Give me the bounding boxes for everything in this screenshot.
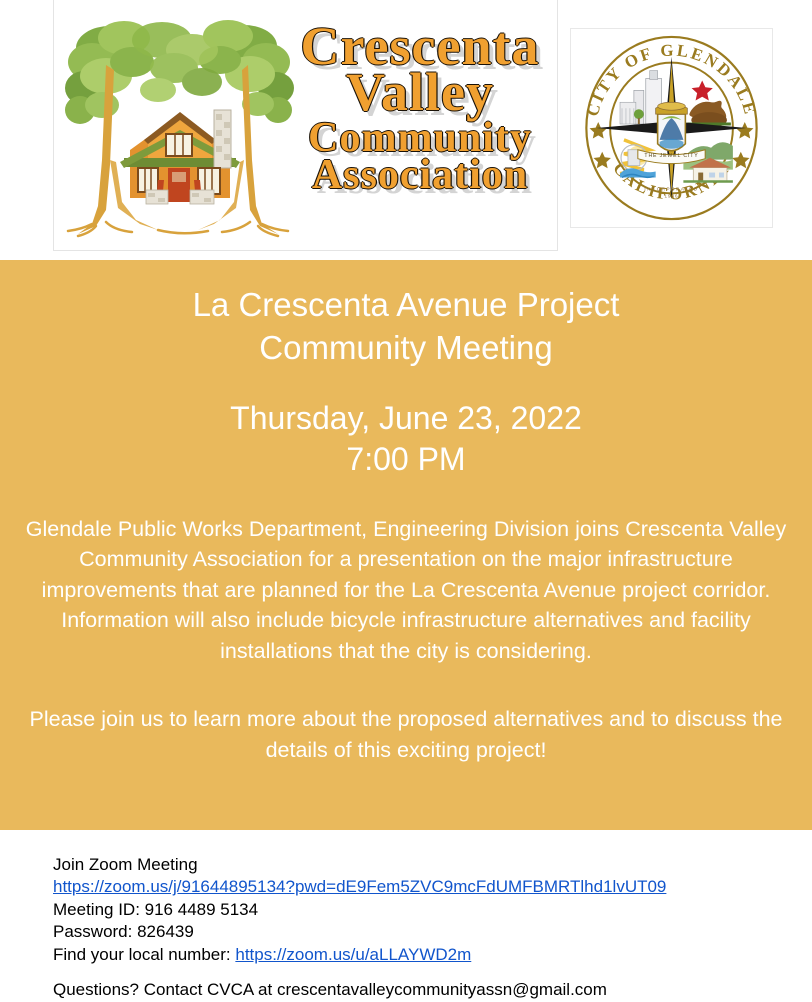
zoom-join-link[interactable]: https://zoom.us/j/91644895134?pwd=dE9Fem…	[53, 877, 666, 896]
meeting-date: Thursday, June 23, 2022	[40, 398, 772, 439]
meeting-title-line2: Community Meeting	[40, 327, 772, 370]
city-of-glendale-seal-box: CITY OF GLENDALE CALIFORNIA	[570, 28, 773, 228]
local-number-row: Find your local number: https://zoom.us/…	[53, 944, 812, 966]
zoom-meeting-id: Meeting ID: 916 4489 5134	[53, 899, 812, 921]
cvca-wordmark: Crescenta Valley Community Association	[286, 22, 554, 227]
house-with-trees-illustration	[62, 10, 297, 245]
meeting-datetime: Thursday, June 23, 2022 7:00 PM	[40, 398, 772, 480]
seal-motto-text: THE JEWEL CITY	[644, 153, 698, 159]
meeting-invitation: Please join us to learn more about the p…	[22, 704, 790, 765]
questions-contact: Questions? Contact CVCA at crescentavall…	[53, 979, 812, 1001]
announcement-band: La Crescenta Avenue Project Community Me…	[0, 260, 812, 830]
join-zoom-heading: Join Zoom Meeting	[53, 854, 812, 876]
meeting-time: 7:00 PM	[40, 439, 772, 480]
meeting-title: La Crescenta Avenue Project Community Me…	[40, 284, 772, 370]
header: Crescenta Valley Community Association C…	[0, 0, 812, 260]
seal-incorporated-year: 1906	[664, 193, 678, 198]
local-number-label: Find your local number:	[53, 945, 235, 964]
meeting-description: Glendale Public Works Department, Engine…	[22, 514, 790, 667]
wordmark-line-association: Association	[286, 156, 554, 195]
zoom-password: Password: 826439	[53, 921, 812, 943]
zoom-details-footer: Join Zoom Meeting https://zoom.us/j/9164…	[0, 830, 812, 1002]
cvca-logo-box: Crescenta Valley Community Association	[53, 0, 558, 251]
local-number-link[interactable]: https://zoom.us/u/aLLAYWD2m	[235, 945, 471, 964]
seal-incorporated-text: INCORPORATED	[644, 186, 698, 191]
city-of-glendale-seal: CITY OF GLENDALE CALIFORNIA	[571, 29, 772, 227]
footer-spacer	[53, 966, 812, 979]
meeting-title-line1: La Crescenta Avenue Project	[40, 284, 772, 327]
